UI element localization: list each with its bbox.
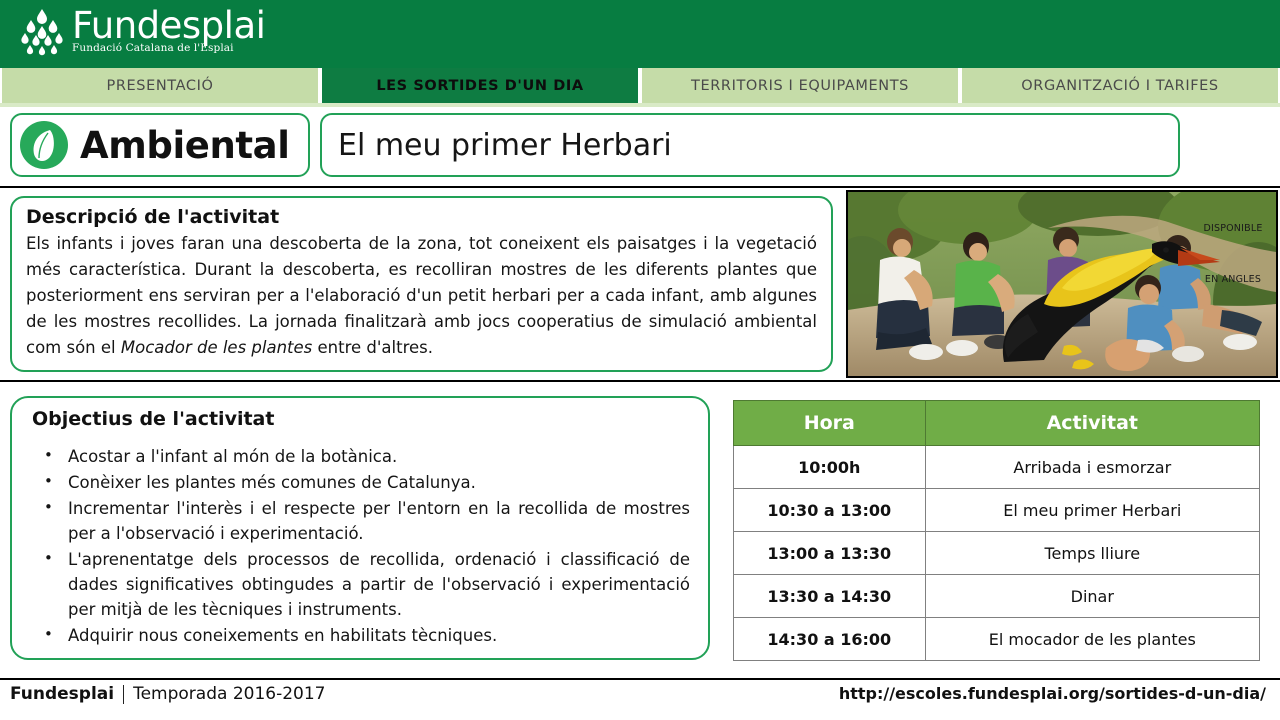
badge-bottom-label: EN ANGLES	[1194, 274, 1272, 285]
nav-tab-presentacio[interactable]: PRESENTACIÓ	[0, 68, 320, 103]
fundesplai-logo[interactable]: Fundesplai Fundació Catalana de l'Esplai	[16, 6, 265, 58]
column-header-activitat: Activitat	[925, 401, 1259, 446]
description-panel: Descripció de l'activitat Els infants i …	[10, 196, 833, 372]
page-footer: Fundesplai Temporada 2016-2017 http://es…	[0, 680, 1280, 720]
footer-left: Fundesplai Temporada 2016-2017	[10, 684, 325, 704]
objectives-heading: Objectius de l'activitat	[32, 408, 690, 430]
fundesplai-droplet-logo-icon	[16, 6, 68, 58]
main-nav: PRESENTACIÓ LES SORTIDES D'UN DIA TERRIT…	[0, 68, 1280, 103]
description-part2: entre d'altres.	[312, 338, 433, 357]
footer-separator	[123, 685, 124, 704]
cell-hour: 10:00h	[734, 446, 926, 489]
nav-tab-sortides-un-dia[interactable]: LES SORTIDES D'UN DIA	[320, 68, 640, 103]
cell-hour: 10:30 a 13:00	[734, 489, 926, 532]
description-body: Els infants i joves faran una descoberta…	[26, 231, 817, 361]
category-badge: Ambiental	[10, 113, 310, 177]
table-row: 14:30 a 16:00 El mocador de les plantes	[734, 618, 1260, 661]
nav-tab-territoris-equipaments[interactable]: TERRITORIS I EQUIPAMENTS	[640, 68, 960, 103]
list-item: Conèixer les plantes més comunes de Cata…	[32, 470, 690, 495]
description-heading: Descripció de l'activitat	[26, 206, 817, 228]
nav-tab-label: ORGANITZACIÓ I TARIFES	[1021, 78, 1218, 94]
objectives-list: Acostar a l'infant al món de la botànica…	[32, 444, 690, 648]
logo-text: Fundesplai Fundació Catalana de l'Esplai	[72, 6, 265, 54]
activity-title-box: El meu primer Herbari	[320, 113, 1180, 177]
list-item: Acostar a l'infant al món de la botànica…	[32, 444, 690, 469]
category-label: Ambiental	[80, 124, 290, 167]
nav-tab-label: LES SORTIDES D'UN DIA	[376, 78, 583, 94]
divider-middle	[0, 380, 1280, 382]
cell-activity: El meu primer Herbari	[925, 489, 1259, 532]
badge-top-label: DISPONIBLE	[1194, 223, 1272, 234]
table-row: 13:30 a 14:30 Dinar	[734, 575, 1260, 618]
site-header: Fundesplai Fundació Catalana de l'Esplai	[0, 0, 1280, 68]
table-header-row: Hora Activitat	[734, 401, 1260, 446]
nav-tab-label: PRESENTACIÓ	[106, 78, 213, 94]
table-row: 10:30 a 13:00 El meu primer Herbari	[734, 489, 1260, 532]
table-row: 13:00 a 13:30 Temps lliure	[734, 532, 1260, 575]
objectives-panel: Objectius de l'activitat Acostar a l'inf…	[10, 396, 710, 660]
list-item: Incrementar l'interès i el respecte per …	[32, 496, 690, 546]
list-item: L'aprenentatge dels processos de recolli…	[32, 547, 690, 622]
list-item: Adquirir nous coneixements en habilitats…	[32, 623, 690, 648]
title-row: Ambiental El meu primer Herbari DISPONIB…	[0, 110, 1280, 182]
cell-hour: 13:00 a 13:30	[734, 532, 926, 575]
footer-url[interactable]: http://escoles.fundesplai.org/sortides-d…	[839, 684, 1266, 703]
cell-hour: 14:30 a 16:00	[734, 618, 926, 661]
nav-underline	[0, 103, 1280, 107]
column-header-hora: Hora	[734, 401, 926, 446]
cell-activity: El mocador de les plantes	[925, 618, 1259, 661]
divider-top	[0, 186, 1280, 188]
cell-hour: 13:30 a 14:30	[734, 575, 926, 618]
nav-tab-organitzacio-tarifes[interactable]: ORGANITZACIÓ I TARIFES	[960, 68, 1280, 103]
cell-activity: Temps lliure	[925, 532, 1259, 575]
nav-tab-label: TERRITORIS I EQUIPAMENTS	[691, 78, 909, 94]
schedule-table: Hora Activitat 10:00h Arribada i esmorza…	[733, 400, 1260, 661]
table-row: 10:00h Arribada i esmorzar	[734, 446, 1260, 489]
footer-season: Temporada 2016-2017	[133, 684, 325, 704]
brand-name: Fundesplai	[72, 6, 265, 45]
brand-tagline: Fundació Catalana de l'Esplai	[72, 42, 265, 54]
cell-activity: Arribada i esmorzar	[925, 446, 1259, 489]
description-italic: Mocador de les plantes	[121, 338, 312, 357]
activity-sheet-page: Fundesplai Fundació Catalana de l'Esplai…	[0, 0, 1280, 720]
cell-activity: Dinar	[925, 575, 1259, 618]
leaf-icon	[20, 121, 68, 169]
page-title: El meu primer Herbari	[338, 128, 672, 163]
footer-brand: Fundesplai	[10, 684, 114, 704]
